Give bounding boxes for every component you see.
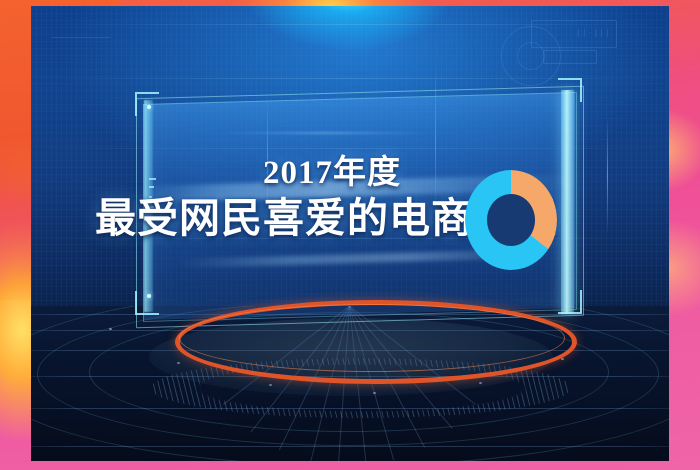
wall-tech-circle xyxy=(517,42,545,70)
panel-node-dot xyxy=(147,105,151,109)
floor-marker-dot xyxy=(561,358,564,360)
stage-scene: ||-||| xyxy=(31,6,669,461)
wall-tech-line xyxy=(51,36,111,38)
panel-node-dot xyxy=(147,294,151,298)
floor-marker-dot xyxy=(109,328,112,330)
wall-tech-label: ||-||| xyxy=(576,28,611,37)
page-title-main: 最受网民喜爱的电商课程 xyxy=(31,193,669,243)
page-title-year: 2017年度 xyxy=(31,154,669,193)
panel-corner-bracket-top-right xyxy=(558,78,582,102)
panel-corner-bracket-top-left xyxy=(135,92,159,116)
poster-root: ||-||| xyxy=(0,0,700,470)
orange-stage-ring-glow xyxy=(179,304,565,372)
donut-chart-hole xyxy=(487,194,535,246)
poster-title-block: 2017年度 最受网民喜爱的电商课程 xyxy=(31,154,669,243)
panel-corner-bracket-bottom-right xyxy=(558,290,582,314)
